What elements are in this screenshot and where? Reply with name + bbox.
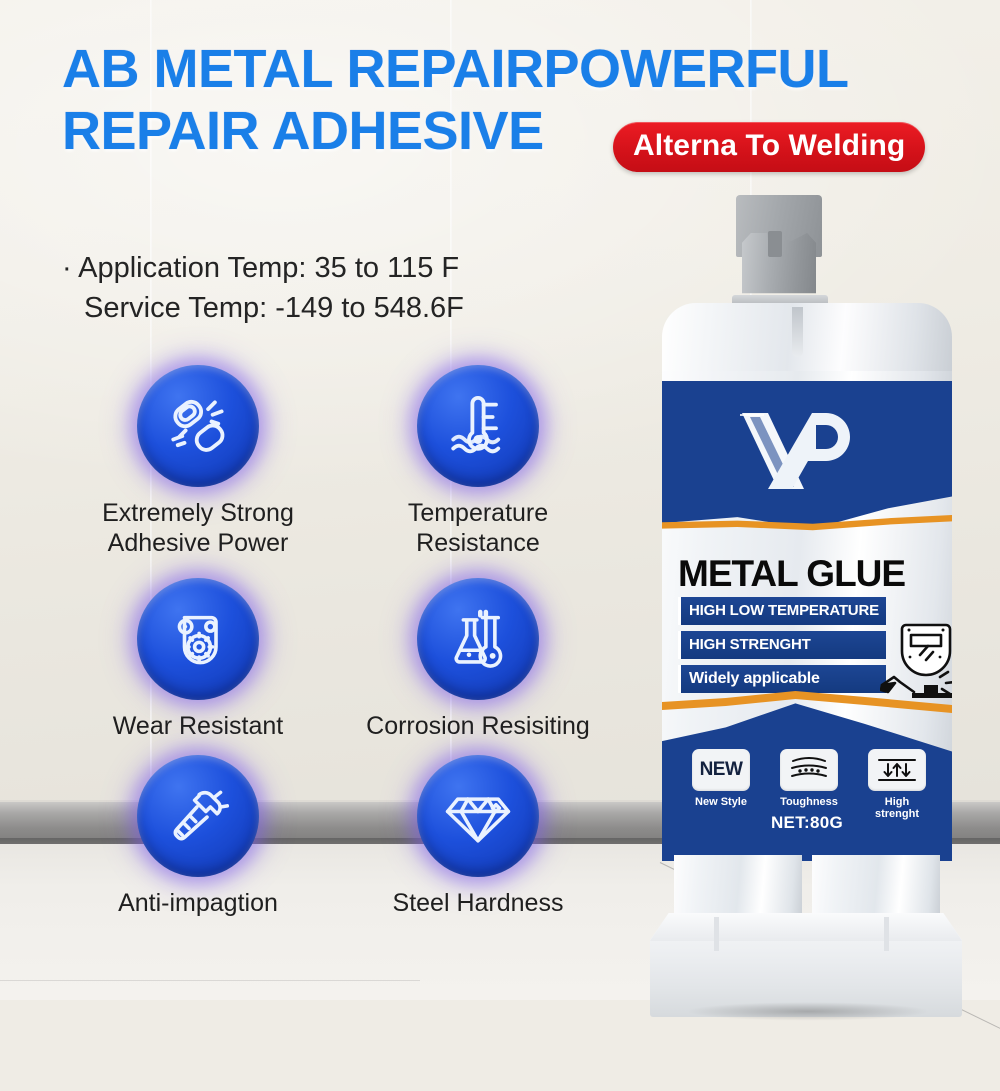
badge-caption: New Style [686,796,756,808]
welding-mask-torch-icon [880,619,952,711]
temperature-specs: · Application Temp: 35 to 115 F Service … [62,248,602,328]
feature-item-corrosion-resisting: Corrosion Resisiting [338,578,618,741]
toughness-band-icon [780,749,838,791]
feature-label: Corrosion Resisiting [366,711,590,741]
lab-flasks-icon [417,578,539,700]
product-stand-rib [714,917,719,951]
updown-arrows-icon [868,749,926,791]
feature-row: Extremely Strong Adhesive Power Temperat… [58,365,658,568]
product-bullet: HIGH STRENGHT [678,631,886,659]
product-badge-row: NEW New Style Toughness [686,749,932,820]
product-stand-rib [884,917,889,951]
product-label: METAL GLUE HIGH LOW TEMPERATURE HIGH STR… [662,381,952,861]
badge-glyph: NEW [700,759,743,781]
hammer-impact-icon [137,755,259,877]
product-bullet: Widely applicable [678,665,886,693]
product-title: METAL GLUE [678,553,905,595]
feature-label: Temperature Resistance [408,498,548,558]
product-bullet-list: HIGH LOW TEMPERATURE HIGH STRENGHT Widel… [678,597,886,699]
new-text-icon: NEW [692,749,750,791]
feature-grid: Extremely Strong Adhesive Power Temperat… [58,365,658,918]
feature-row: Anti-impagtion Steel Hardness [58,755,658,918]
badge-new-style: NEW New Style [686,749,756,820]
broken-chain-link-icon [137,365,259,487]
floor-grout-line [0,980,420,981]
feature-label: Steel Hardness [393,888,564,918]
headline-line-1: AB METAL REPAIRPOWERFUL [62,39,848,99]
feature-item-temperature-resistance: Temperature Resistance [338,365,618,558]
feature-item-adhesive-power: Extremely Strong Adhesive Power [58,365,338,558]
badge-toughness: Toughness [774,749,844,820]
thermometer-water-icon [417,365,539,487]
nozzle-notch [768,231,782,257]
diamond-icon [417,755,539,877]
application-temp-line: · Application Temp: 35 to 115 F [62,248,602,288]
net-weight-text: NET:80G [662,813,952,833]
feature-item-steel-hardness: Steel Hardness [338,755,618,918]
alternative-to-welding-badge: Alterna To Welding [613,122,925,172]
cartridge-center-seam [792,307,803,357]
feature-item-anti-impaction: Anti-impagtion [58,755,338,918]
service-temp-line: Service Temp: -149 to 548.6F [62,288,602,328]
feature-label: Extremely Strong Adhesive Power [102,498,294,558]
product-drop-shadow [640,1001,976,1027]
xp-logo [734,403,854,495]
product-image: METAL GLUE HIGH LOW TEMPERATURE HIGH STR… [640,195,970,915]
badge-high-strength: High strenght [862,749,932,820]
product-stand-lip [650,913,962,941]
product-bullet: HIGH LOW TEMPERATURE [678,597,886,625]
feature-row: Wear Resistant Corrosion Resisiting [58,578,658,741]
badge-caption: Toughness [774,796,844,808]
feature-label: Wear Resistant [113,711,283,741]
feature-item-wear-resistant: Wear Resistant [58,578,338,741]
feature-label: Anti-impagtion [118,888,278,918]
timing-belt-gear-icon [137,578,259,700]
